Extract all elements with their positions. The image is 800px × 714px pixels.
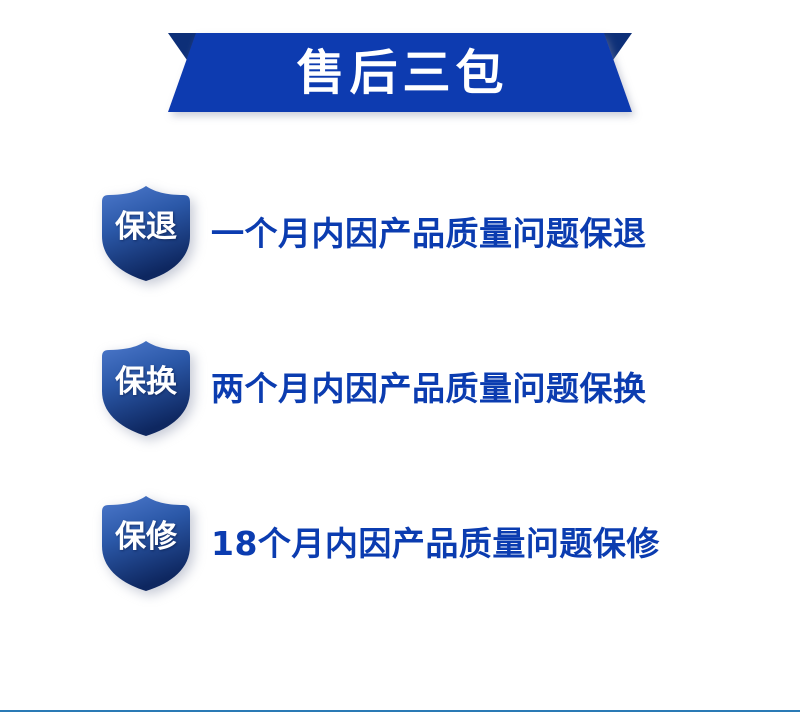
shield-label: 保修 — [96, 494, 196, 593]
shield-badge: 保修 — [96, 494, 196, 593]
guarantee-row: 保修 18个月内因产品质量问题保修 — [0, 480, 800, 635]
guarantee-description: 两个月内因产品质量问题保换 — [211, 339, 647, 438]
guarantee-row: 保换 两个月内因产品质量问题保换 — [0, 325, 800, 480]
guarantee-description: 18个月内因产品质量问题保修 — [211, 494, 660, 593]
shield-badge: 保退 — [96, 184, 196, 283]
page-title: 售后三包 — [0, 33, 800, 112]
banner-section: 售后三包 — [0, 0, 800, 130]
shield-label: 保换 — [96, 339, 196, 438]
footer-divider — [0, 710, 800, 712]
shield-label: 保退 — [96, 184, 196, 283]
guarantee-list: 保退 一个月内因产品质量问题保退 保换 两个月内因产品质量问题保换 — [0, 170, 800, 635]
shield-badge: 保换 — [96, 339, 196, 438]
guarantee-description: 一个月内因产品质量问题保退 — [211, 184, 647, 283]
guarantee-row: 保退 一个月内因产品质量问题保退 — [0, 170, 800, 325]
